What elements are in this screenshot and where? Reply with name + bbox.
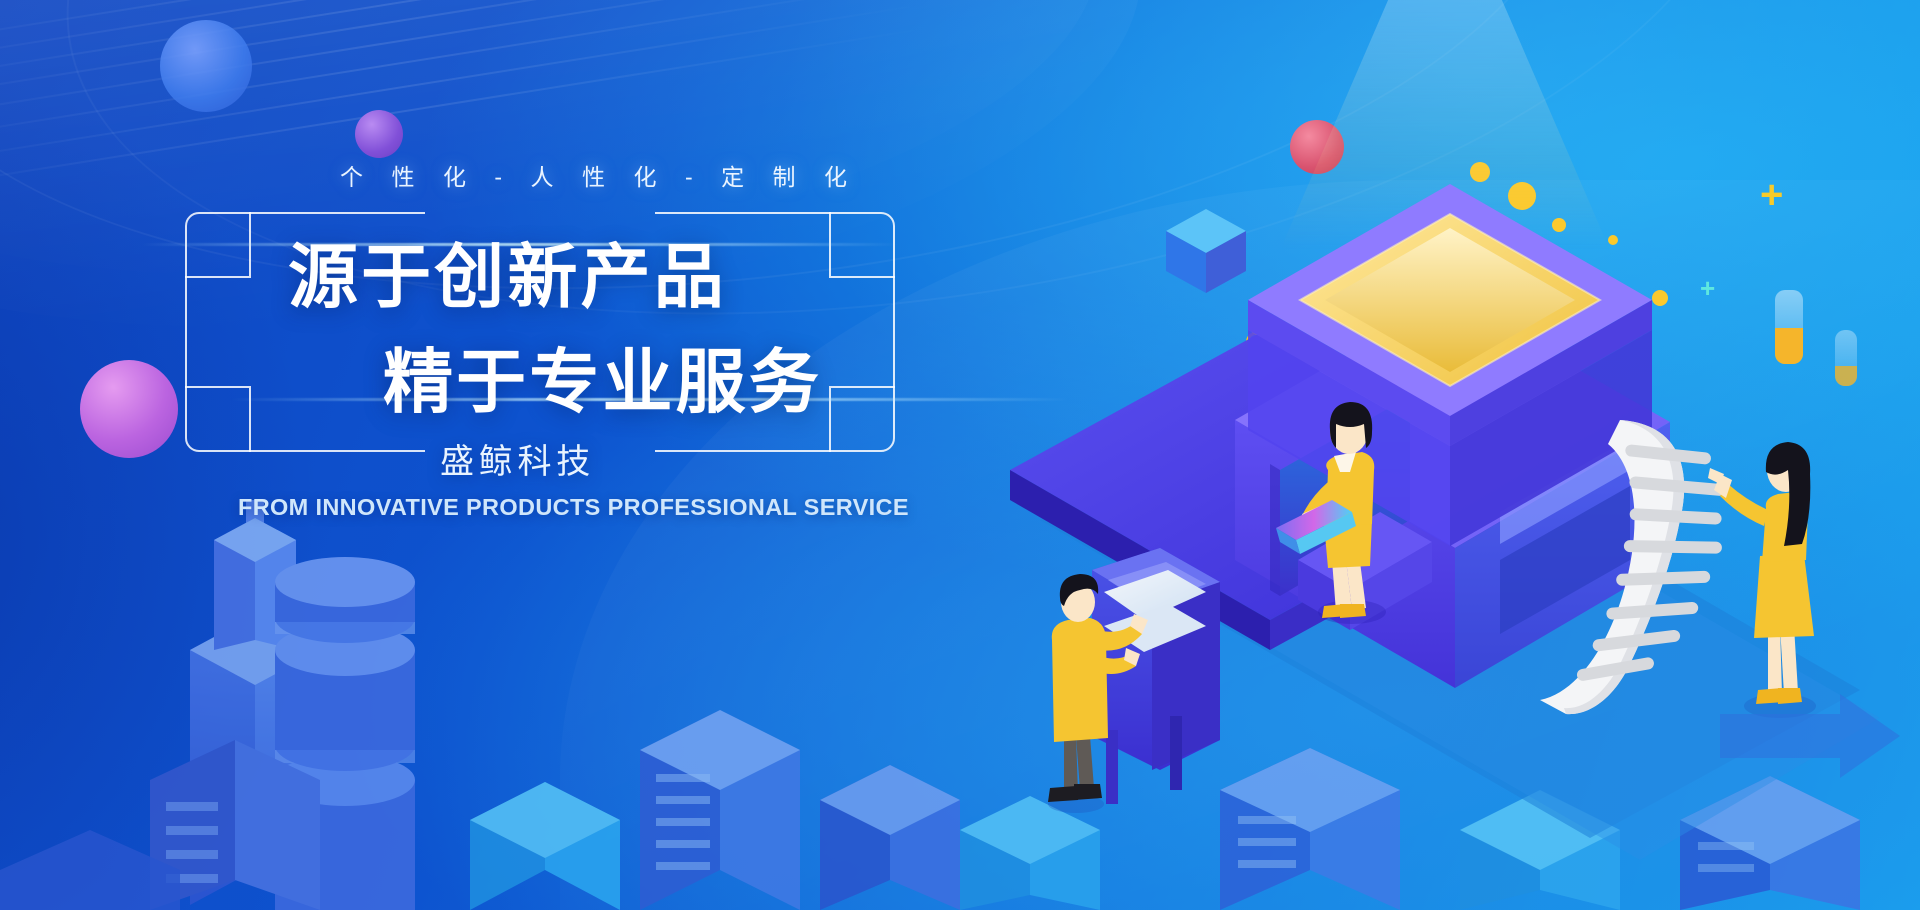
headline-line-2: 精于专业服务 [0,345,1000,419]
headline-line-1: 源于创新产品 [0,240,1000,314]
hero-banner: + + + [0,0,1920,910]
frame-line [655,212,831,214]
kiosk-terminal [1020,530,1280,830]
brand-name: 盛鲸科技 [0,434,1000,483]
hero-text-block: 个 性 化 - 人 性 化 - 定 制 化 源于创新产品 精于专业服务 盛鲸科技… [0,0,1000,910]
english-subtitle: FROM INNOVATIVE PRODUCTS PROFESSIONAL SE… [0,494,1000,521]
eyebrow-tagline: 个 性 化 - 人 性 化 - 定 制 化 [340,158,858,192]
frame-line [249,212,425,214]
ground-arrow [1720,690,1920,810]
